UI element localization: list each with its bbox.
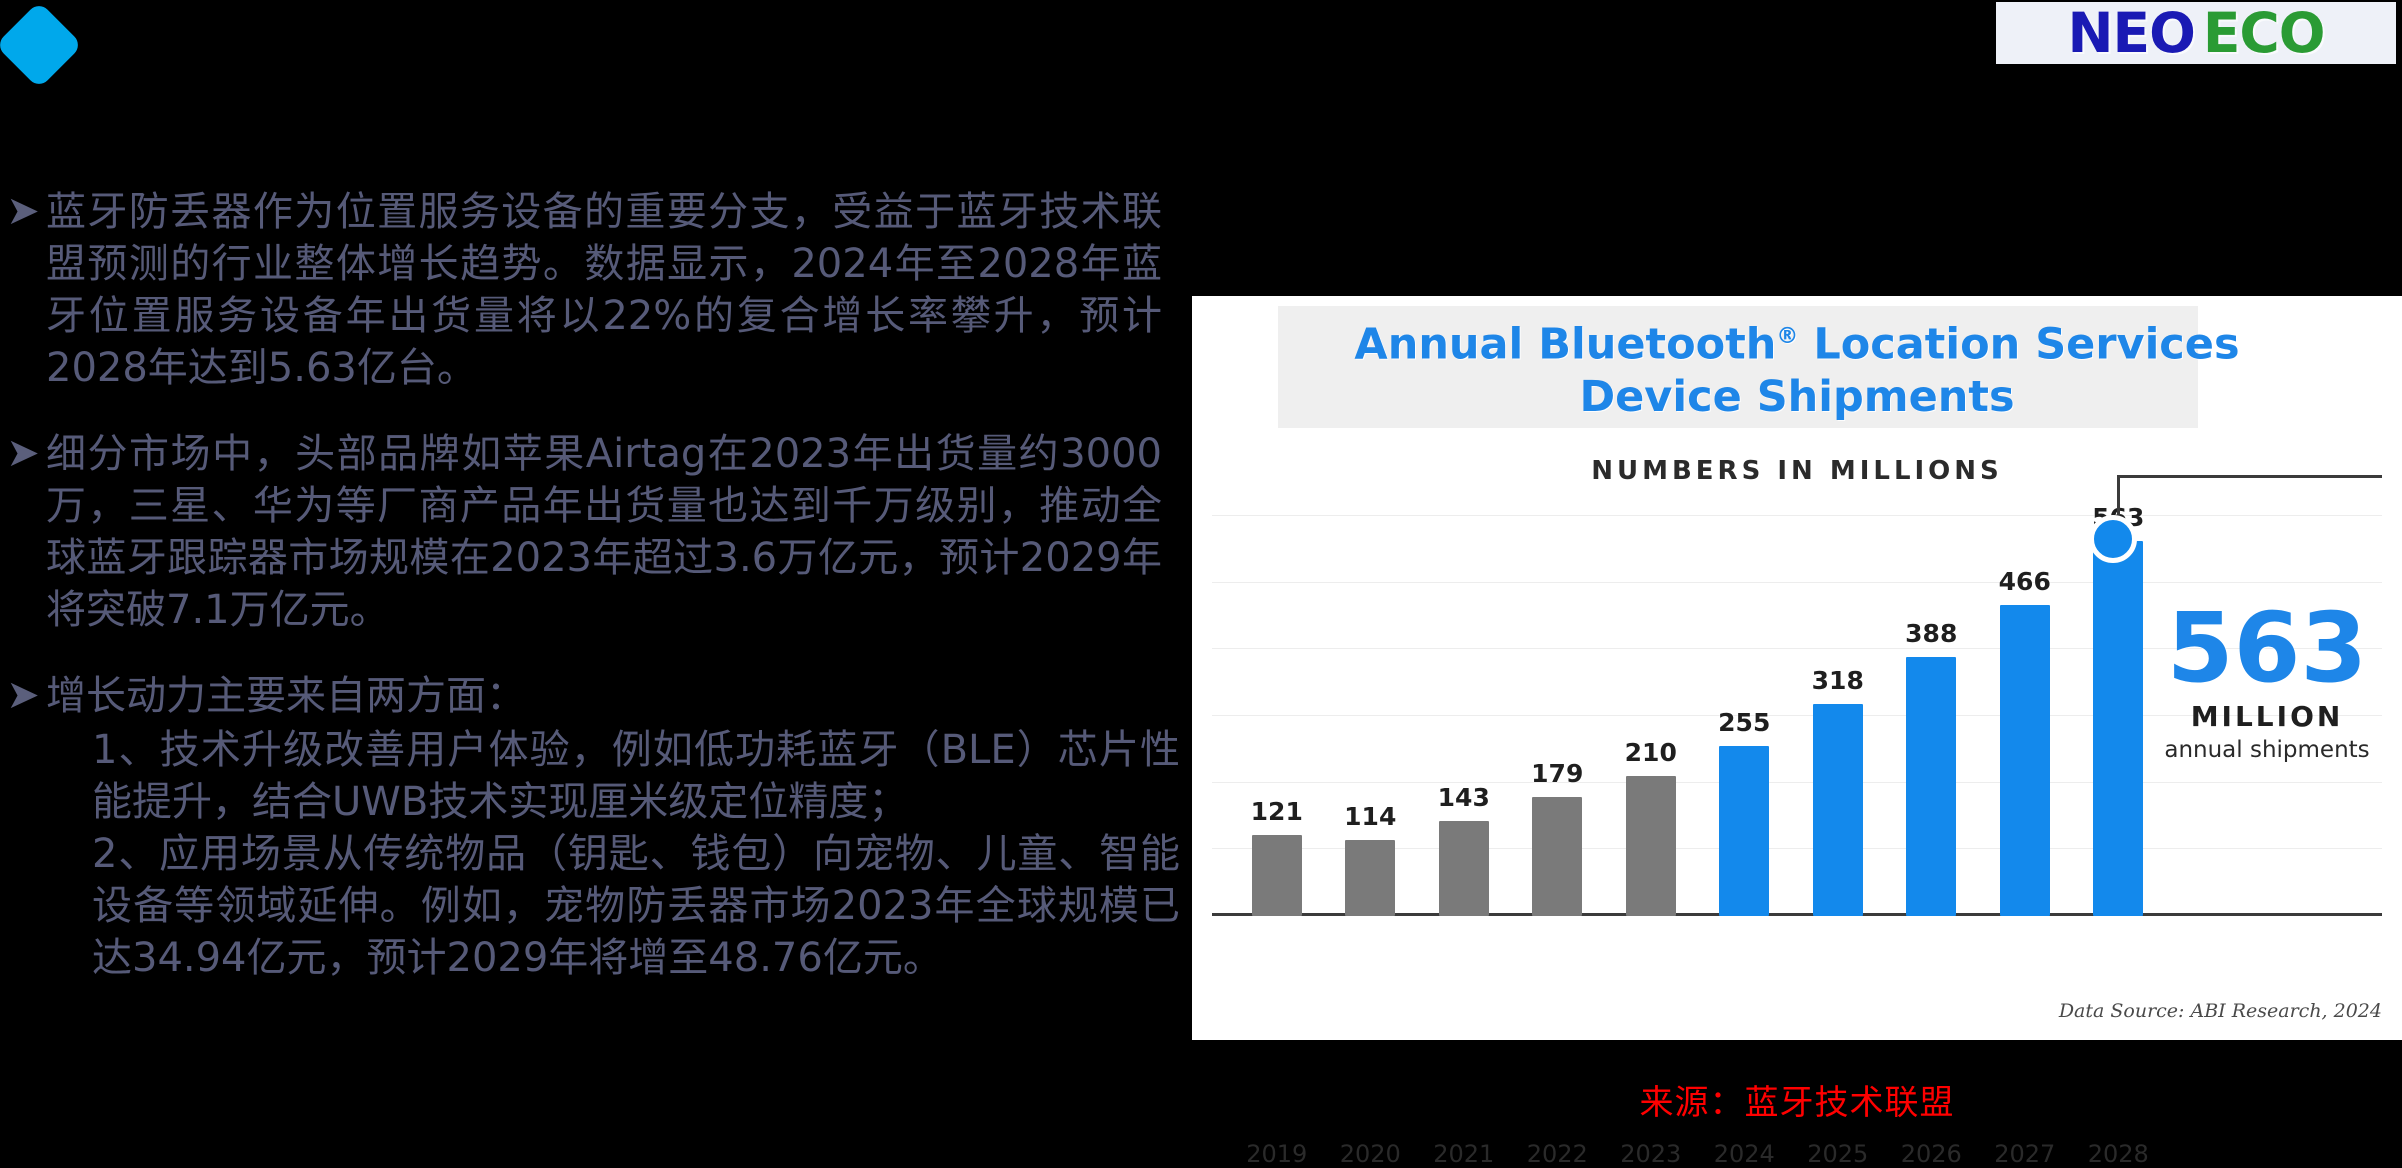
- bullet-sub-item-1: 1、技术升级改善用户体验，例如低功耗蓝牙（BLE）芯片性能提升，结合UWB技术实…: [46, 724, 1180, 828]
- source-caption: 来源：蓝牙技术联盟: [1192, 1075, 2402, 1124]
- presentation-slide: NEOECO ➤ 蓝牙防丢器作为位置服务设备的重要分支，受益于蓝牙技术联盟预测的…: [0, 0, 2402, 1168]
- logo-text-neo: NEO: [2067, 1, 2194, 65]
- chart-plot-area: 121114143179210255318388466563 201920202…: [1212, 516, 2142, 916]
- bar-rect: [1252, 835, 1302, 916]
- bar-rect: [1345, 840, 1395, 916]
- callout-leader-stem: [2117, 475, 2120, 519]
- chart-title-line1: Annual Bluetooth: [1354, 319, 1776, 369]
- chart-bar-2024: 255: [1719, 708, 1769, 916]
- registered-trademark-icon: ®: [1776, 324, 1798, 349]
- chart-bar-2025: 318: [1813, 666, 1863, 916]
- bar-value-label: 466: [1999, 567, 2051, 596]
- data-source-note: Data Source: ABI Research, 2024: [2059, 1000, 2382, 1022]
- x-tick-2021: 2021: [1417, 1140, 1511, 1168]
- bullet-arrow-icon: ➤: [0, 186, 46, 236]
- callout-subtitle: annual shipments: [2127, 737, 2402, 763]
- x-tick-2022: 2022: [1511, 1140, 1605, 1168]
- bar-rect: [1906, 657, 1956, 916]
- chart-bar-2019: 121: [1252, 797, 1302, 916]
- bullet-list: ➤ 蓝牙防丢器作为位置服务设备的重要分支，受益于蓝牙技术联盟预测的行业整体增长趋…: [0, 186, 1180, 984]
- x-tick-2023: 2023: [1604, 1140, 1698, 1168]
- bar-rect: [1719, 746, 1769, 916]
- x-tick-2020: 2020: [1324, 1140, 1418, 1168]
- x-tick-2026: 2026: [1885, 1140, 1979, 1168]
- bar-value-label: 255: [1718, 708, 1770, 737]
- logo-text-eco: ECO: [2203, 1, 2325, 65]
- bullet-paragraph-1: 蓝牙防丢器作为位置服务设备的重要分支，受益于蓝牙技术联盟预测的行业整体增长趋势。…: [46, 186, 1180, 394]
- chart-bar-2026: 388: [1906, 619, 1956, 916]
- chart-gridline: [1212, 582, 2382, 583]
- bar-rect: [2000, 605, 2050, 916]
- bar-value-label: 143: [1438, 783, 1490, 812]
- chart-bar-2020: 114: [1345, 802, 1395, 916]
- chart-title-line2: Device Shipments: [1579, 372, 2014, 422]
- list-item: ➤ 细分市场中，头部品牌如苹果Airtag在2023年出货量约3000万，三星、…: [0, 428, 1180, 636]
- bar-value-label: 210: [1625, 738, 1677, 767]
- callout-unit: MILLION: [2127, 700, 2402, 733]
- bar-rect: [1532, 797, 1582, 916]
- bar-value-label: 121: [1251, 797, 1303, 826]
- callout-563: 563 MILLION annual shipments: [2127, 602, 2402, 763]
- bar-rect: [1439, 821, 1489, 916]
- x-tick-2025: 2025: [1791, 1140, 1885, 1168]
- callout-leader-line: [2117, 475, 2382, 478]
- list-item: ➤ 增长动力主要来自两方面： 1、技术升级改善用户体验，例如低功耗蓝牙（BLE）…: [0, 670, 1180, 984]
- bullet-arrow-icon: ➤: [0, 428, 46, 478]
- x-tick-2019: 2019: [1230, 1140, 1324, 1168]
- bar-rect: [1813, 704, 1863, 916]
- x-tick-2027: 2027: [1978, 1140, 2072, 1168]
- chart-bar-2022: 179: [1532, 759, 1582, 916]
- chart-gridline: [1212, 515, 2382, 516]
- chart-title-line1b: Location Services: [1798, 319, 2239, 369]
- diamond-decoration-icon: [0, 1, 83, 89]
- bar-value-label: 388: [1905, 619, 1957, 648]
- x-tick-2028: 2028: [2072, 1140, 2166, 1168]
- chart-bar-2027: 466: [2000, 567, 2050, 916]
- bullet-arrow-icon: ➤: [0, 670, 46, 720]
- bar-rect: [1626, 776, 1676, 916]
- list-item: ➤ 蓝牙防丢器作为位置服务设备的重要分支，受益于蓝牙技术联盟预测的行业整体增长趋…: [0, 186, 1180, 394]
- bar-value-label: 318: [1812, 666, 1864, 695]
- chart-card: Annual Bluetooth® Location Services Devi…: [1192, 296, 2402, 1040]
- bullet-paragraph-2: 细分市场中，头部品牌如苹果Airtag在2023年出货量约3000万，三星、华为…: [46, 428, 1180, 636]
- callout-number: 563: [2127, 602, 2402, 694]
- bar-value-label: 179: [1531, 759, 1583, 788]
- chart-title: Annual Bluetooth® Location Services Devi…: [1212, 310, 2382, 424]
- bullet-paragraph-3: 增长动力主要来自两方面：: [46, 670, 1180, 722]
- bullet-sub-item-2: 2、应用场景从传统物品（钥匙、钱包）向宠物、儿童、智能设备等领域延伸。例如，宠物…: [46, 828, 1180, 984]
- chart-gridline: [1212, 782, 2382, 783]
- final-value-marker-icon: [2089, 515, 2137, 563]
- bullet-sub-list: 1、技术升级改善用户体验，例如低功耗蓝牙（BLE）芯片性能提升，结合UWB技术实…: [46, 724, 1180, 984]
- neoeco-logo: NEOECO: [1996, 2, 2396, 64]
- x-tick-2024: 2024: [1698, 1140, 1792, 1168]
- chart-bar-2023: 210: [1626, 738, 1676, 916]
- bar-value-label: 114: [1344, 802, 1396, 831]
- chart-bar-2021: 143: [1439, 783, 1489, 916]
- chart-subtitle: NUMBERS IN MILLIONS: [1212, 456, 2382, 486]
